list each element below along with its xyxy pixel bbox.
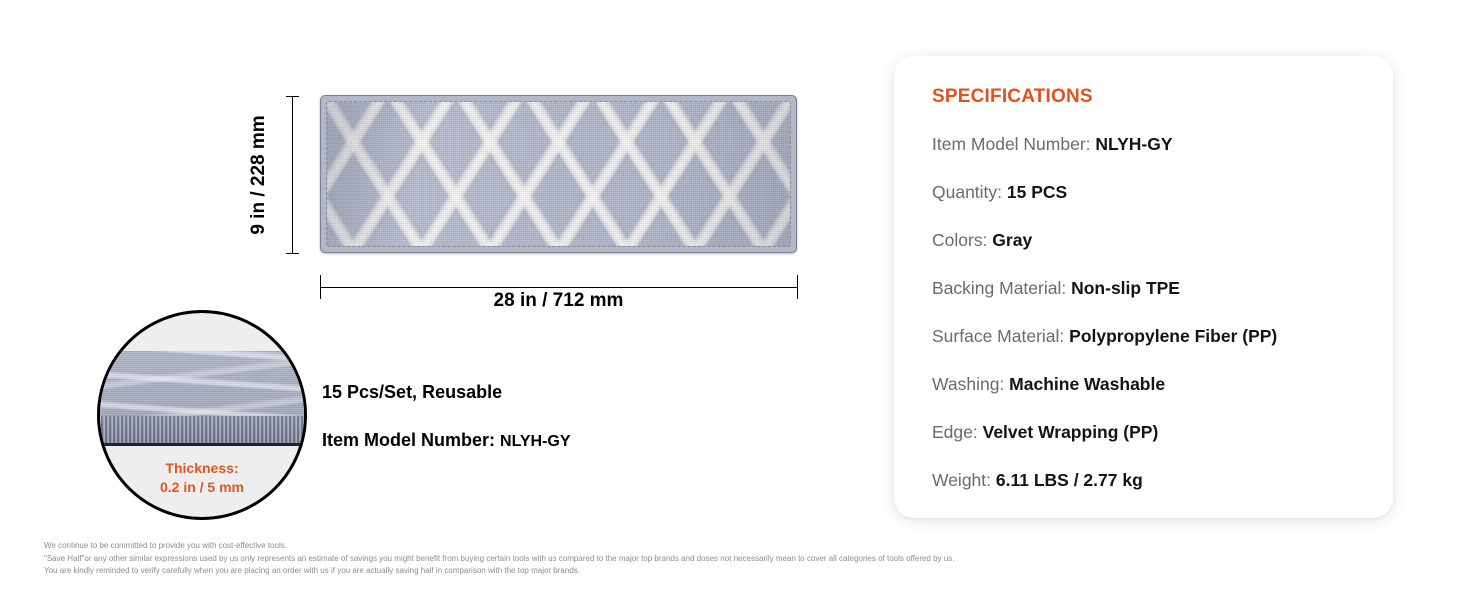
mat-base-line [97,443,307,446]
height-dimension-cap-bottom [286,253,299,254]
product-figure: 9 in / 228 mm 28 in / 712 mm Thickness: … [0,0,880,530]
disclaimer: We continue to be committed to provide y… [44,540,954,578]
specification-label: Weight: [932,470,996,490]
specification-label: Backing Material: [932,278,1071,298]
specification-value: Non-slip TPE [1071,278,1180,298]
specification-row: Surface Material: Polypropylene Fiber (P… [932,326,1393,346]
thickness-closeup-photo [97,351,307,446]
specification-row: Item Model Number: NLYH-GY [932,134,1393,154]
specification-value: 6.11 LBS / 2.77 kg [996,470,1143,490]
specification-value: NLYH-GY [1095,134,1172,154]
product-image-stair-tread-mat [320,95,797,253]
specification-value: 15 PCS [1007,182,1067,202]
specification-value: Machine Washable [1009,374,1165,394]
specification-row: Edge: Velvet Wrapping (PP) [932,422,1393,442]
mat-surface-texture [97,351,307,417]
height-dimension-cap-top [286,96,299,97]
specification-value: Polypropylene Fiber (PP) [1069,326,1277,346]
specification-label: Washing: [932,374,1009,394]
disclaimer-line-3: You are kindly reminded to verify carefu… [44,565,954,578]
mat-outline [320,95,797,253]
specification-row: Weight: 6.11 LBS / 2.77 kg [932,470,1393,490]
specification-row: Backing Material: Non-slip TPE [932,278,1393,298]
specification-label: Quantity: [932,182,1007,202]
height-dimension-label: 9 in / 228 mm [246,96,272,254]
specification-value: Velvet Wrapping (PP) [983,422,1159,442]
specification-value: Gray [992,230,1032,250]
specification-label: Item Model Number: [932,134,1095,154]
width-dimension-cap-right [797,275,798,299]
specification-row: Quantity: 15 PCS [932,182,1393,202]
thickness-caption: Thickness: 0.2 in / 5 mm [100,459,304,497]
model-number-note-value: NLYH-GY [500,433,571,450]
disclaimer-line-2: "Save Half"or any other similar expressi… [44,553,954,566]
specification-row: Washing: Machine Washable [932,374,1393,394]
set-info-note: 15 Pcs/Set, Reusable [322,382,502,403]
specification-label: Surface Material: [932,326,1069,346]
width-dimension-line [320,287,797,288]
specification-row: Colors: Gray [932,230,1393,250]
specifications-title: SPECIFICATIONS [932,86,1393,108]
width-dimension-label: 28 in / 712 mm [320,290,797,312]
specifications-card: SPECIFICATIONS Item Model Number: NLYH-G… [894,56,1393,518]
model-number-note-label: Item Model Number: [322,430,500,450]
specifications-list: Item Model Number: NLYH-GYQuantity: 15 P… [932,134,1393,490]
mat-pile-edge [97,416,307,446]
thickness-detail-circle: Thickness: 0.2 in / 5 mm [97,310,307,520]
specification-label: Edge: [932,422,983,442]
height-dimension-line [292,96,293,254]
specification-label: Colors: [932,230,992,250]
thickness-caption-line1: Thickness: [100,459,304,478]
model-number-note: Item Model Number: NLYH-GY [322,430,571,451]
thickness-caption-line2: 0.2 in / 5 mm [100,478,304,497]
disclaimer-line-1: We continue to be committed to provide y… [44,540,954,553]
